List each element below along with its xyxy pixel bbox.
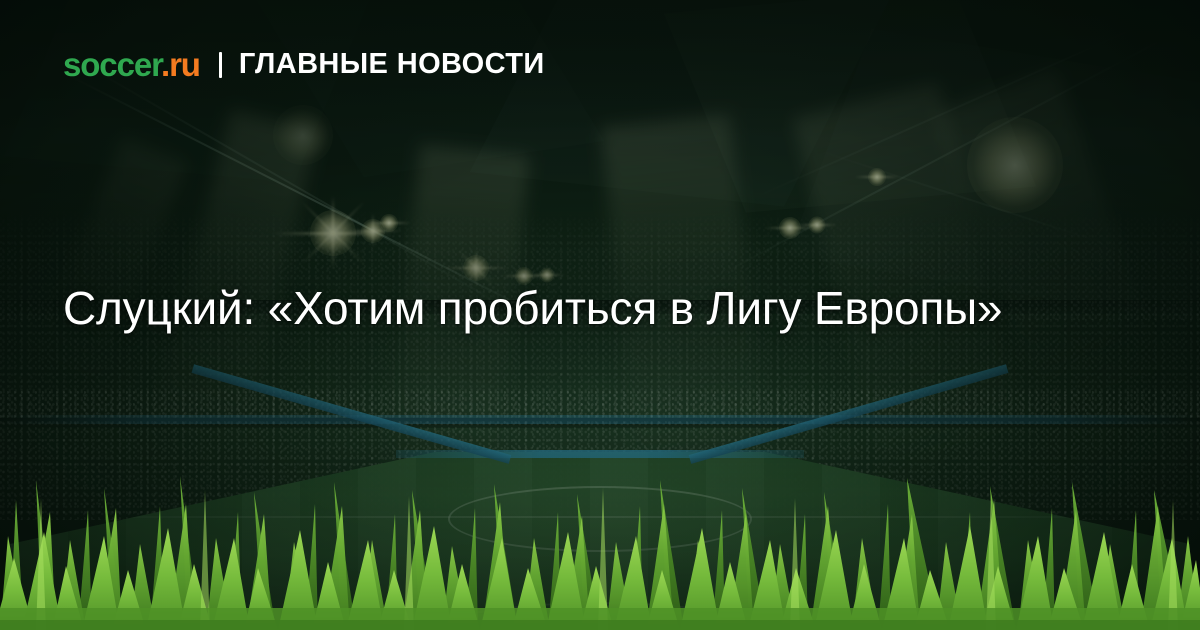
share-card: soccer.ru ГЛАВНЫЕ НОВОСТИ Слуцкий: «Хоти…	[0, 0, 1200, 630]
section-label: ГЛАВНЫЕ НОВОСТИ	[239, 50, 545, 79]
logo-tld: .ru	[161, 46, 200, 83]
foreground-grass	[0, 440, 1200, 630]
page-title: Слуцкий: «Хотим пробиться в Лигу Европы»	[63, 278, 1073, 339]
logo-word: soccer	[63, 46, 161, 83]
site-header: soccer.ru ГЛАВНЫЕ НОВОСТИ	[63, 48, 545, 81]
soccer-ru-logo[interactable]: soccer.ru	[63, 48, 200, 81]
header-divider	[219, 52, 222, 78]
